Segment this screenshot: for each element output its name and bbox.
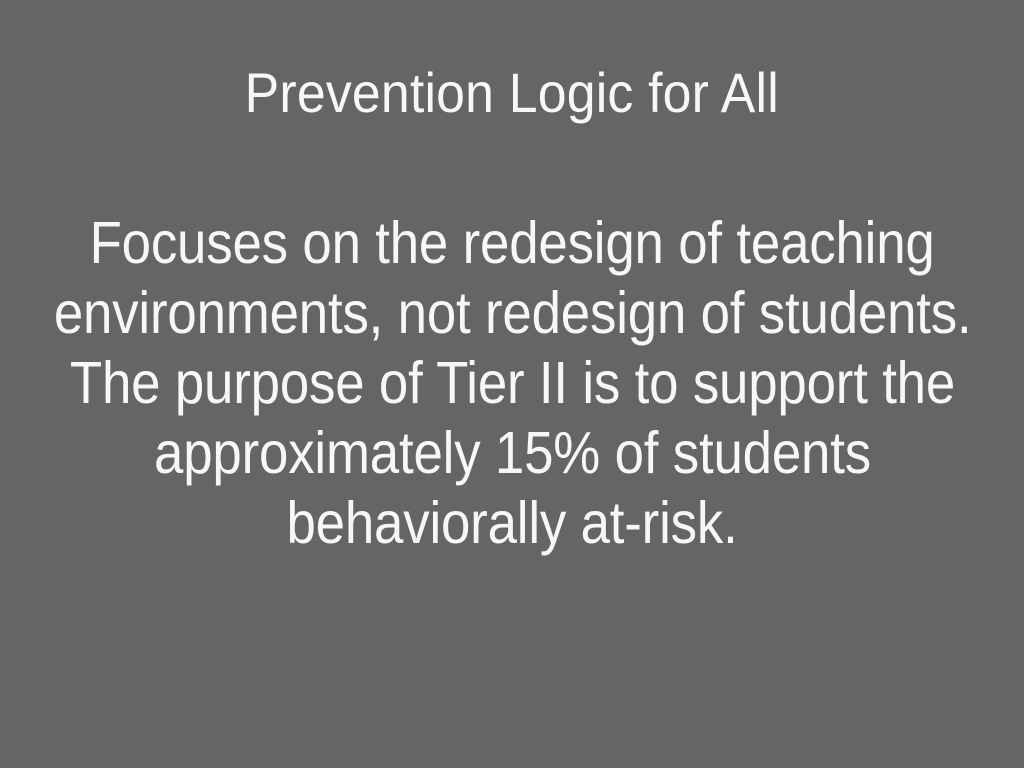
slide-title: Prevention Logic for All	[0, 62, 1024, 124]
slide-body-line-text: behaviorally at-risk.	[286, 488, 737, 558]
slide-body-line-text: Focuses on the redesign of teaching	[89, 208, 934, 278]
slide-body-line: environments, not redesign of students.	[0, 278, 1024, 348]
slide-body-line-text: environments, not redesign of students.	[54, 278, 972, 348]
slide-body: Focuses on the redesign of teaching envi…	[0, 208, 1024, 558]
presentation-slide: Prevention Logic for All Focuses on the …	[0, 0, 1024, 768]
slide-body-line: Focuses on the redesign of teaching	[0, 208, 1024, 278]
slide-title-text: Prevention Logic for All	[245, 62, 779, 124]
slide-body-line-text: The purpose of Tier II is to support the	[69, 348, 954, 418]
slide-body-line: approximately 15% of students	[0, 418, 1024, 488]
slide-body-line-text: approximately 15% of students	[154, 418, 871, 488]
slide-body-line: The purpose of Tier II is to support the	[0, 348, 1024, 418]
slide-body-line: behaviorally at-risk.	[0, 488, 1024, 558]
